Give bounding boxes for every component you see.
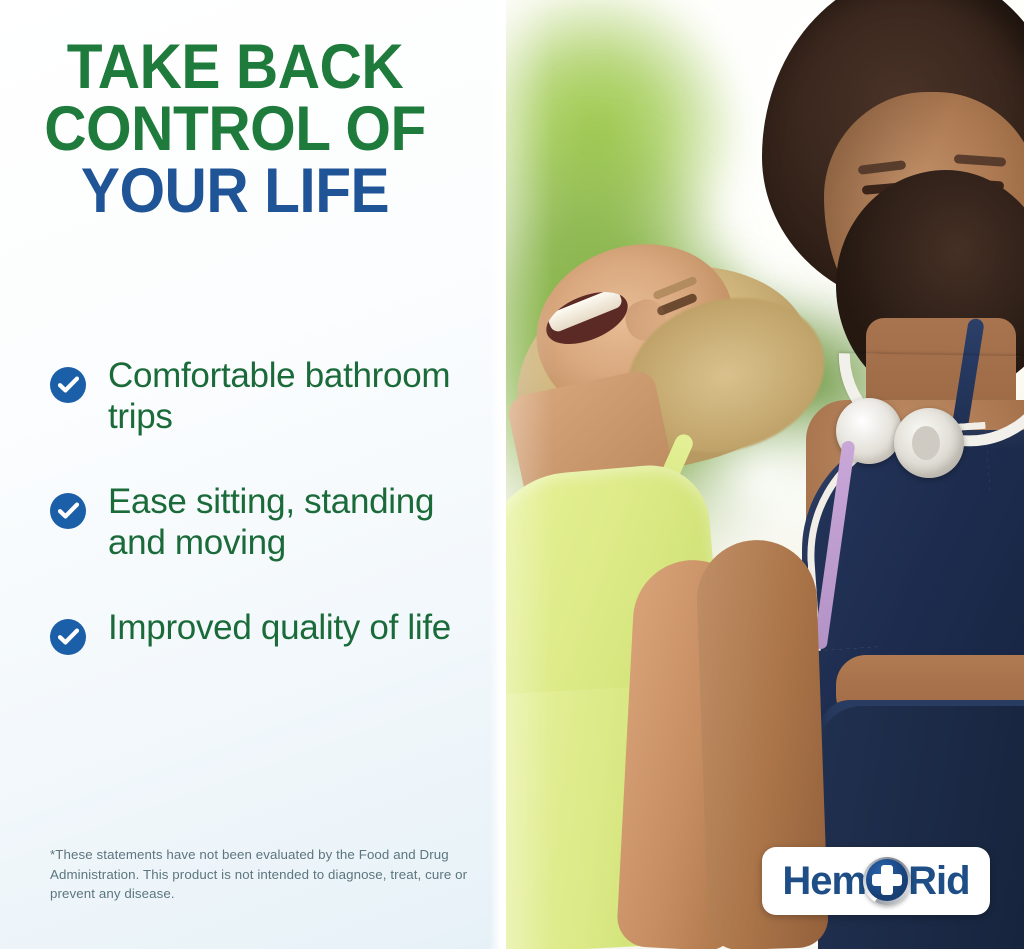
- headline-line-2: CONTROL OF: [16, 98, 453, 160]
- advertisement-banner: TAKE BACK CONTROL OF YOUR LIFE Comfortab…: [0, 0, 1024, 949]
- cross-horizontal: [872, 874, 902, 886]
- fda-disclaimer: *These statements have not been evaluate…: [50, 845, 480, 904]
- headline-line-1: TAKE BACK: [16, 36, 453, 98]
- list-item: Ease sitting, standing and moving: [50, 481, 490, 563]
- check-circle-icon: [50, 367, 86, 403]
- headphone-earcup-inner: [912, 426, 940, 460]
- medical-cross-badge-icon: [863, 857, 911, 905]
- brand-logo[interactable]: Hem Rid: [762, 847, 990, 915]
- list-item: Comfortable bathroom trips: [50, 355, 490, 437]
- benefit-label: Improved quality of life: [108, 607, 451, 648]
- lifestyle-photo: Hem Rid: [506, 0, 1024, 949]
- benefit-label: Comfortable bathroom trips: [108, 355, 490, 437]
- benefits-list: Comfortable bathroom trips Ease sitting,…: [50, 355, 490, 699]
- list-item: Improved quality of life: [50, 607, 490, 655]
- content-panel: TAKE BACK CONTROL OF YOUR LIFE Comfortab…: [0, 0, 506, 949]
- logo-text-hem: Hem: [782, 861, 866, 901]
- benefit-label: Ease sitting, standing and moving: [108, 481, 490, 563]
- check-circle-icon: [50, 619, 86, 655]
- headline-line-3: YOUR LIFE: [16, 160, 453, 222]
- page-title: TAKE BACK CONTROL OF YOUR LIFE: [0, 36, 470, 222]
- logo-text-rid: Rid: [908, 861, 969, 901]
- check-circle-icon: [50, 493, 86, 529]
